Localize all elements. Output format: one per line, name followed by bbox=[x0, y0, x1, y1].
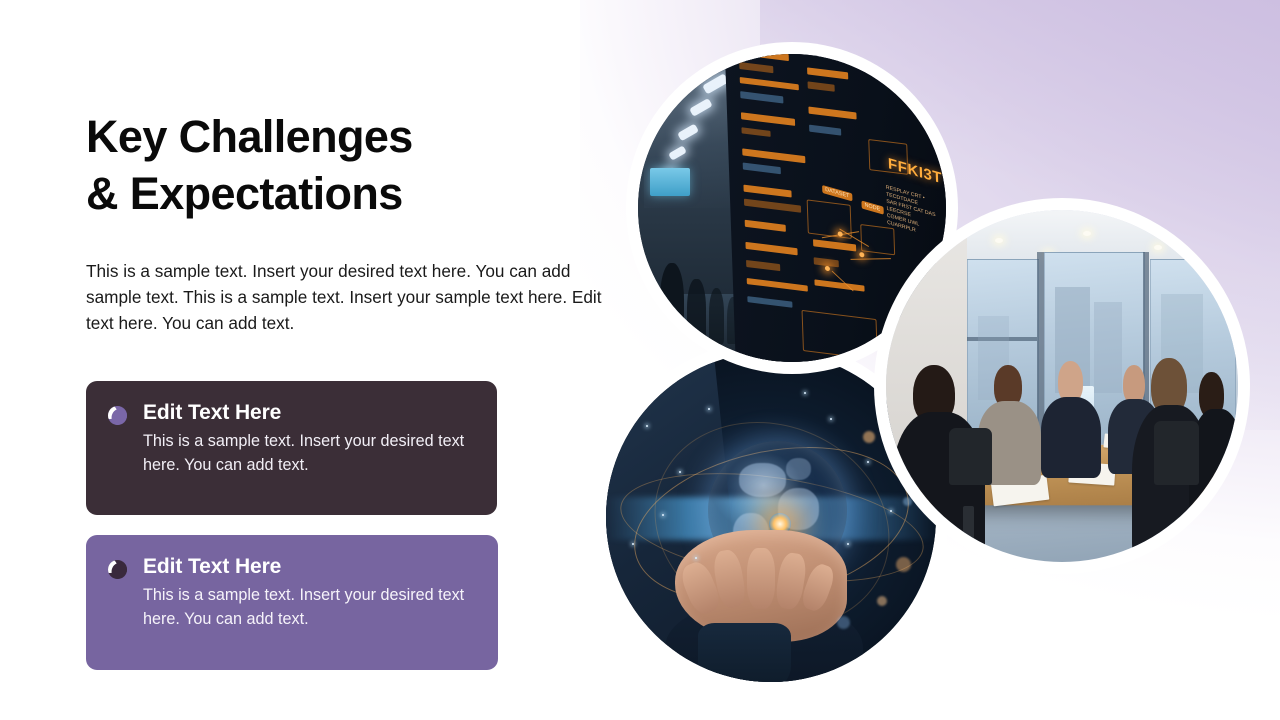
card-1-content: Edit Text Here This is a sample text. In… bbox=[108, 400, 475, 477]
image-boardroom-meeting bbox=[886, 210, 1238, 562]
body-paragraph: This is a sample text. Insert your desir… bbox=[86, 258, 602, 336]
card-2-text-block: Edit Text Here This is a sample text. In… bbox=[143, 554, 476, 631]
image-circle-cluster: DATASET NODE SUG FFKI3T RESPLAY CRT • TE… bbox=[596, 20, 1256, 710]
meeting-image-canvas bbox=[886, 210, 1238, 562]
title-line-1: Key Challenges bbox=[86, 111, 413, 162]
page-title: Key Challenges & Expectations bbox=[86, 108, 646, 222]
card-2-heading: Edit Text Here bbox=[143, 554, 476, 580]
crescent-bullet-icon bbox=[108, 560, 127, 579]
card-1-heading: Edit Text Here bbox=[143, 400, 475, 426]
text-card-1[interactable]: Edit Text Here This is a sample text. In… bbox=[86, 381, 497, 515]
card-2-content: Edit Text Here This is a sample text. In… bbox=[108, 554, 476, 631]
text-card-2[interactable]: Edit Text Here This is a sample text. In… bbox=[86, 535, 498, 670]
presentation-slide: Key Challenges & Expectations This is a … bbox=[0, 0, 1280, 720]
card-2-description: This is a sample text. Insert your desir… bbox=[143, 583, 476, 631]
title-line-2: & Expectations bbox=[86, 165, 646, 222]
tech-overlay-large-text: FFKI3T bbox=[888, 155, 943, 187]
tech-overlay-small-text: SUG bbox=[920, 104, 946, 123]
crescent-bullet-icon bbox=[108, 406, 127, 425]
card-1-description: This is a sample text. Insert your desir… bbox=[143, 429, 475, 477]
card-1-text-block: Edit Text Here This is a sample text. In… bbox=[143, 400, 475, 477]
